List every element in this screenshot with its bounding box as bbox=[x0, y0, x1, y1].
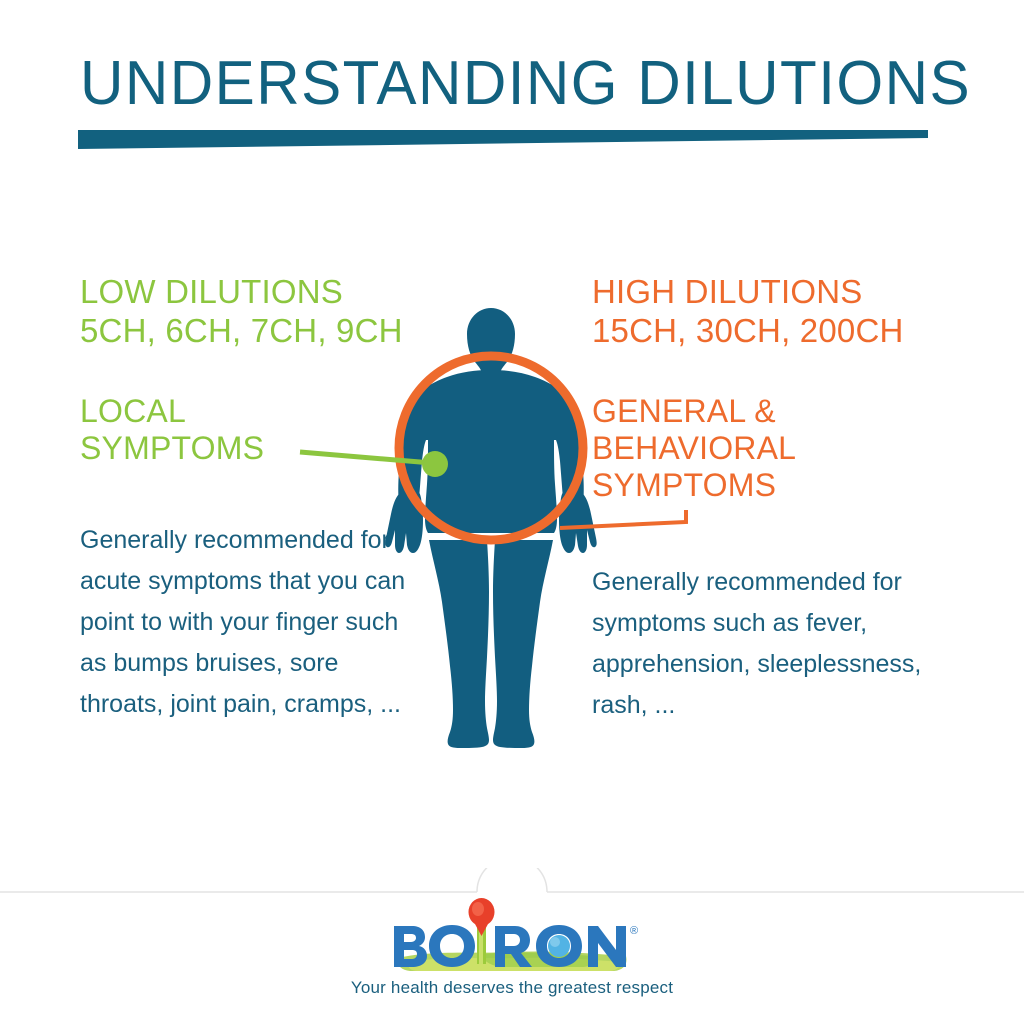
green-local-marker-dot bbox=[422, 451, 448, 477]
high-dilutions-heading: HIGH DILUTIONS 15CH, 30CH, 200CH bbox=[592, 272, 904, 350]
general-behavioral-symptoms-subheading: GENERAL & BEHAVIORAL SYMPTOMS bbox=[592, 393, 796, 504]
boiron-logo: ® bbox=[382, 896, 642, 986]
high-dilutions-heading-line2: 15CH, 30CH, 200CH bbox=[592, 311, 904, 350]
local-symptoms-line1: LOCAL bbox=[80, 393, 264, 430]
general-symptoms-line1: GENERAL & bbox=[592, 393, 796, 430]
page-title: UNDERSTANDING DILUTIONS bbox=[80, 48, 934, 120]
human-body-silhouette bbox=[385, 308, 596, 748]
registered-trademark-mark: ® bbox=[630, 925, 638, 937]
boiron-logo-artwork: ® bbox=[382, 896, 642, 986]
high-dilutions-description: Generally recommended for symptoms such … bbox=[592, 562, 962, 726]
logo-flower-head-icon bbox=[469, 898, 495, 936]
low-dilutions-description: Generally recommended for acute symptoms… bbox=[80, 520, 410, 725]
general-symptoms-line3: SYMPTOMS bbox=[592, 467, 796, 504]
logo-blue-dot-highlight bbox=[550, 937, 560, 947]
local-symptoms-line2: SYMPTOMS bbox=[80, 430, 264, 467]
boiron-tagline: Your health deserves the greatest respec… bbox=[0, 978, 1024, 998]
orange-leader-line bbox=[560, 510, 686, 528]
infographic-poster: UNDERSTANDING DILUTIONS LOW DILUTIONS 5C… bbox=[0, 0, 1024, 1024]
logo-blue-dot bbox=[548, 935, 570, 957]
low-dilutions-heading-line2: 5CH, 6CH, 7CH, 9CH bbox=[80, 311, 403, 350]
local-symptoms-subheading: LOCAL SYMPTOMS bbox=[80, 393, 264, 467]
title-underline-wedge bbox=[78, 128, 928, 154]
low-dilutions-heading: LOW DILUTIONS 5CH, 6CH, 7CH, 9CH bbox=[80, 272, 403, 350]
general-symptoms-line2: BEHAVIORAL bbox=[592, 430, 796, 467]
high-dilutions-heading-line1: HIGH DILUTIONS bbox=[592, 272, 904, 311]
green-leader-line bbox=[300, 452, 432, 463]
orange-highlight-circle bbox=[399, 356, 583, 540]
low-dilutions-heading-line1: LOW DILUTIONS bbox=[80, 272, 403, 311]
